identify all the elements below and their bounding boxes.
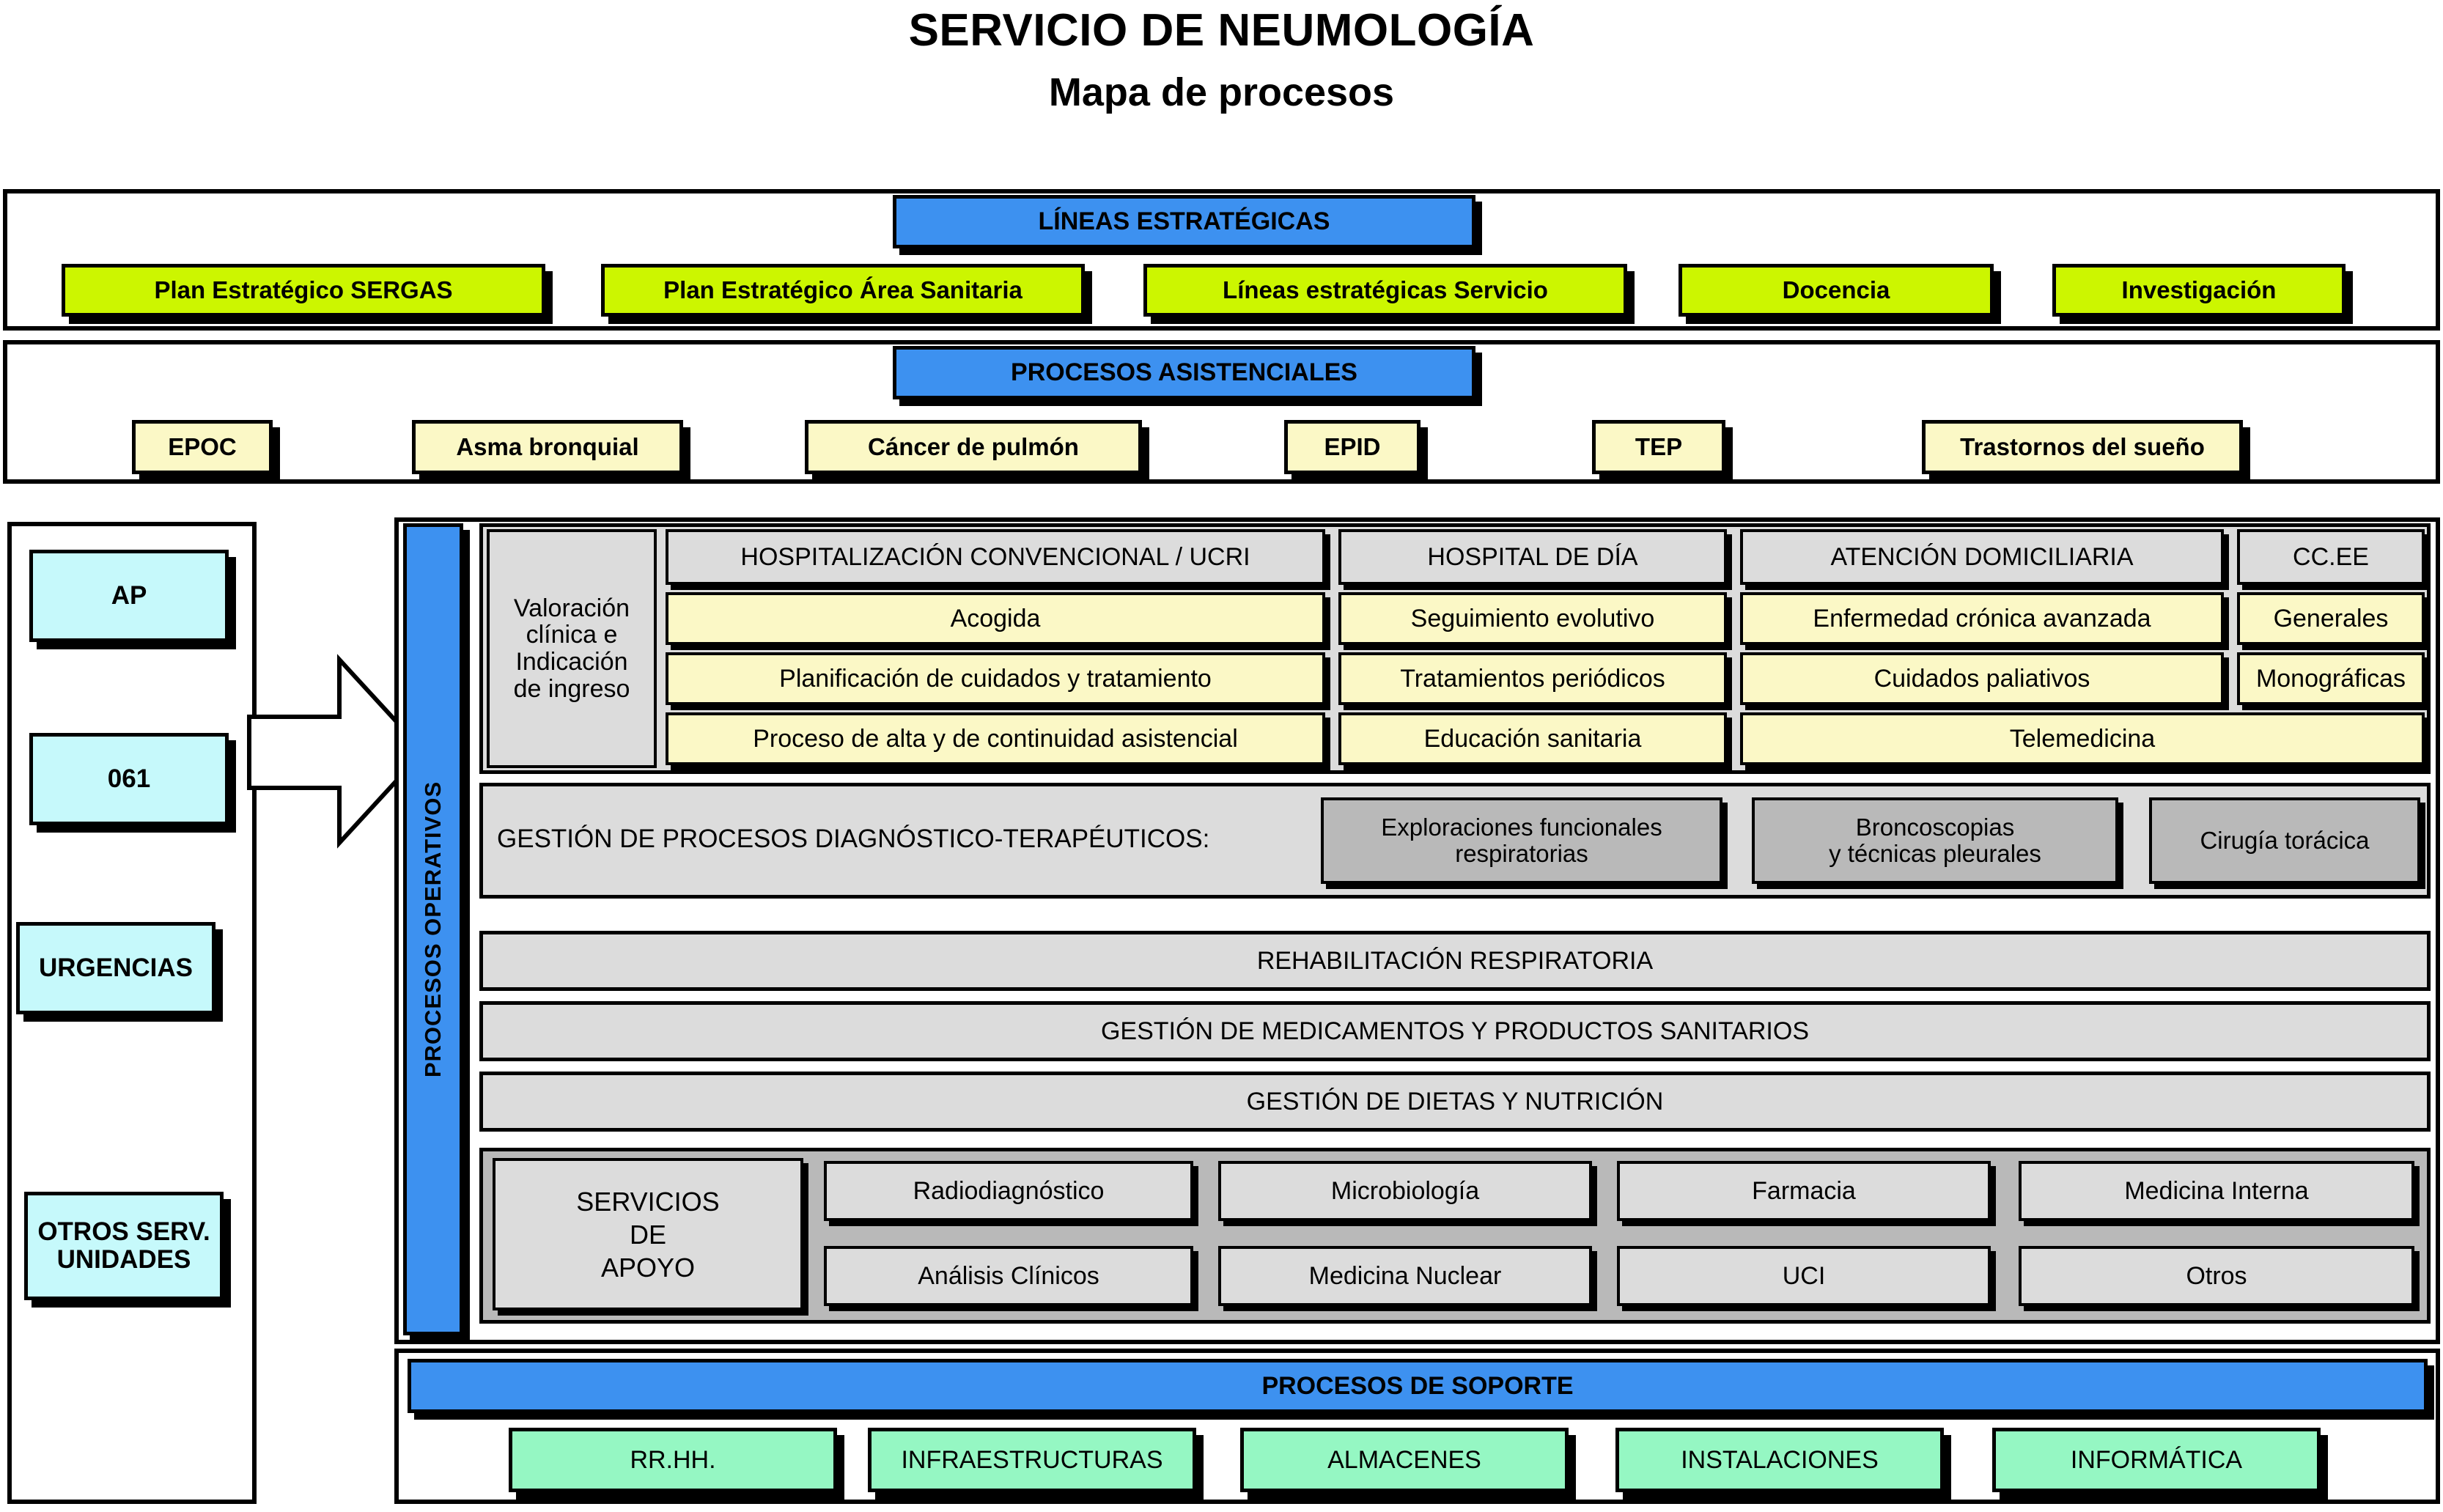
col-header-ccee: CC.EE [2237,529,2425,585]
support-service-medicina-interna[interactable]: Medicina Interna [2019,1161,2414,1221]
support-process-4[interactable]: INFORMÁTICA [1992,1428,2321,1492]
strategic-item-4[interactable]: Investigación [2052,264,2346,317]
assistential-item-1[interactable]: Asma bronquial [412,420,683,474]
hospitalizacion-row-1[interactable]: Planificación de cuidados y tratamiento [666,652,1325,705]
full-band-medicamentos[interactable]: GESTIÓN DE MEDICAMENTOS Y PRODUCTOS SANI… [479,1001,2431,1061]
assistential-item-3[interactable]: EPID [1284,420,1421,474]
strategic-item-0[interactable]: Plan Estratégico SERGAS [62,264,545,317]
page-title: SERVICIO DE NEUMOLOGÍA [0,4,2443,56]
support-service-radiodiagnostico[interactable]: Radiodiagnóstico [824,1161,1193,1221]
col-header-hospitalizacion: HOSPITALIZACIÓN CONVENCIONAL / UCRI [666,529,1325,585]
hospital-dia-row-0[interactable]: Seguimiento evolutivo [1338,592,1727,645]
support-process-3[interactable]: INSTALACIONES [1615,1428,1944,1492]
entry-point-ap[interactable]: AP [29,550,229,642]
col-header-atencion-domiciliaria: ATENCIÓN DOMICILIARIA [1740,529,2224,585]
atencion-domiciliaria-row-1[interactable]: Cuidados paliativos [1740,652,2224,705]
strategic-lines-header: LÍNEAS ESTRATÉGICAS [893,195,1475,248]
operational-processes-band-label: PROCESOS OPERATIVOS [403,523,463,1335]
entry-point-061[interactable]: 061 [29,733,229,825]
assistential-item-5[interactable]: Trastornos del sueño [1922,420,2243,474]
support-process-1[interactable]: INFRAESTRUCTURAS [868,1428,1196,1492]
support-processes-header: PROCESOS DE SOPORTE [408,1359,2428,1413]
entry-point-otros-serv-unidades[interactable]: OTROS SERV. UNIDADES [24,1192,224,1300]
support-services-label: SERVICIOS DE APOYO [493,1158,803,1310]
assistential-processes-header: PROCESOS ASISTENCIALES [893,346,1475,399]
telemedicina-box[interactable]: Telemedicina [1740,712,2425,765]
hospitalizacion-row-2[interactable]: Proceso de alta y de continuidad asisten… [666,712,1325,765]
full-band-rehabilitacion[interactable]: REHABILITACIÓN RESPIRATORIA [479,931,2431,991]
ccee-row-1[interactable]: Monográficas [2237,652,2425,705]
diagnostic-item-1[interactable]: Broncoscopias y técnicas pleurales [1752,797,2118,884]
support-service-microbiologia[interactable]: Microbiología [1218,1161,1592,1221]
strategic-item-2[interactable]: Líneas estratégicas Servicio [1143,264,1627,317]
assistential-item-2[interactable]: Cáncer de pulmón [805,420,1142,474]
valoracion-clinica-box[interactable]: Valoración clínica e Indicación de ingre… [487,529,657,768]
support-process-2[interactable]: ALMACENES [1240,1428,1569,1492]
diagnostic-item-2[interactable]: Cirugía torácica [2149,797,2420,884]
support-service-otros[interactable]: Otros [2019,1246,2414,1306]
hospitalizacion-row-0[interactable]: Acogida [666,592,1325,645]
entry-point-urgencias[interactable]: URGENCIAS [16,922,215,1014]
support-service-analisis-clinicos[interactable]: Análisis Clínicos [824,1246,1193,1306]
support-process-0[interactable]: RR.HH. [509,1428,837,1492]
support-service-farmacia[interactable]: Farmacia [1617,1161,1991,1221]
support-service-medicina-nuclear[interactable]: Medicina Nuclear [1218,1246,1592,1306]
support-service-uci[interactable]: UCI [1617,1246,1991,1306]
page-title-block: SERVICIO DE NEUMOLOGÍA Mapa de procesos [0,0,2443,115]
ccee-row-0[interactable]: Generales [2237,592,2425,645]
assistential-item-0[interactable]: EPOC [132,420,273,474]
full-band-dietas[interactable]: GESTIÓN DE DIETAS Y NUTRICIÓN [479,1072,2431,1132]
operational-processes-band-text: PROCESOS OPERATIVOS [420,781,446,1077]
col-header-hospital-de-dia: HOSPITAL DE DÍA [1338,529,1727,585]
assistential-item-4[interactable]: TEP [1592,420,1725,474]
page-subtitle: Mapa de procesos [0,70,2443,115]
hospital-dia-row-2[interactable]: Educación sanitaria [1338,712,1727,765]
strategic-item-1[interactable]: Plan Estratégico Área Sanitaria [601,264,1085,317]
diagnostic-item-0[interactable]: Exploraciones funcionales respiratorias [1321,797,1722,884]
atencion-domiciliaria-row-0[interactable]: Enfermedad crónica avanzada [1740,592,2224,645]
hospital-dia-row-1[interactable]: Tratamientos periódicos [1338,652,1727,705]
diagnostic-therapeutic-label: GESTIÓN DE PROCESOS DIAGNÓSTICO-TERAPÉUT… [497,825,1209,854]
strategic-item-3[interactable]: Docencia [1679,264,1994,317]
